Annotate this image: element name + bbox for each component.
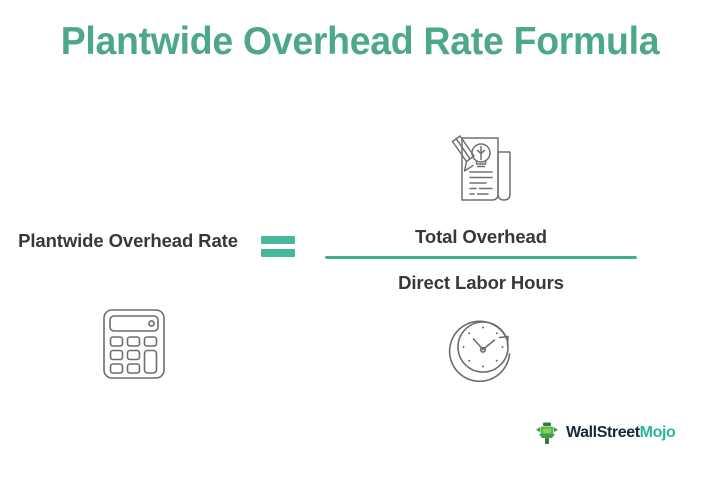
wallstreetmojo-bull-icon bbox=[534, 420, 560, 446]
equals-sign bbox=[261, 236, 295, 258]
logo-text-wallstreet: WallStreet bbox=[566, 424, 640, 441]
left-term-group: Plantwide Overhead Rate bbox=[8, 228, 248, 254]
calculator-icon bbox=[98, 307, 170, 381]
logo-wordmark: WallStreetMojo bbox=[566, 425, 675, 441]
denominator-label: Direct Labor Hours bbox=[325, 272, 637, 294]
logo-text-mojo: Mojo bbox=[640, 424, 676, 441]
document-lightbulb-pencil-icon bbox=[440, 130, 520, 208]
page-title: Plantwide Overhead Rate Formula bbox=[14, 20, 705, 64]
wallstreetmojo-logo[interactable]: WallStreetMojo bbox=[534, 420, 675, 446]
numerator-label: Total Overhead bbox=[325, 226, 637, 248]
plantwide-overhead-rate-label: Plantwide Overhead Rate bbox=[8, 228, 248, 254]
clock-refresh-icon bbox=[447, 308, 523, 382]
fraction-divider bbox=[325, 256, 637, 259]
equals-bar-bottom bbox=[261, 249, 295, 257]
equals-bar-top bbox=[261, 236, 295, 244]
infographic-canvas: Plantwide Overhead Rate Formula Plantwid… bbox=[0, 0, 720, 489]
